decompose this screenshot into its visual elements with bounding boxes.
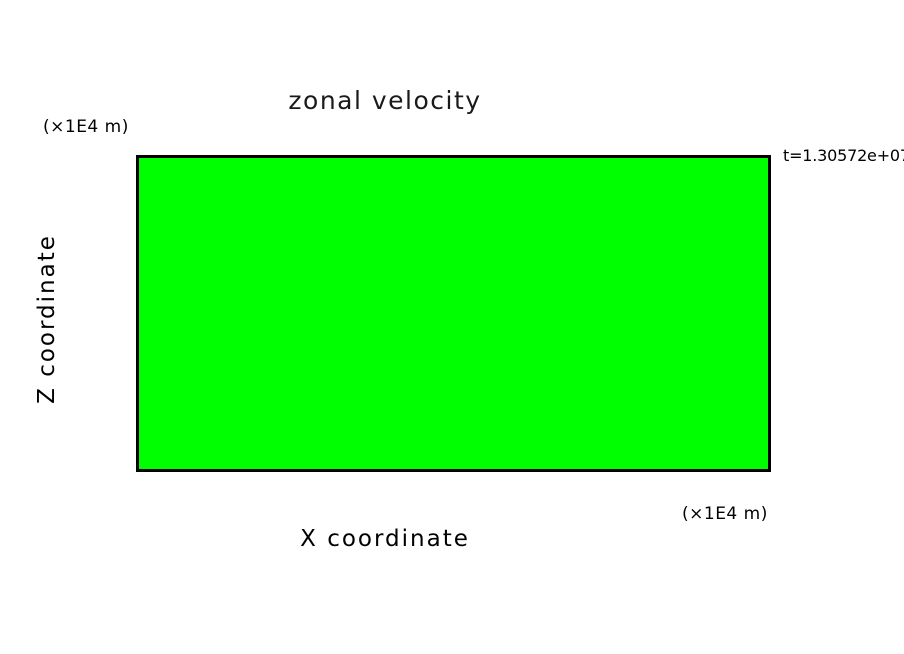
- y-axis-unit-label: (×1E4 m): [43, 117, 129, 137]
- timestamp-label: t=1.30572e+07: [783, 146, 904, 165]
- colorbar-svg: [780, 205, 804, 520]
- colorbar[interactable]: [780, 205, 804, 520]
- x-axis-unit-label: (×1E4 m): [682, 504, 768, 524]
- page-title: zonal velocity: [0, 86, 770, 115]
- contour-plot-area: [136, 155, 771, 472]
- y-axis-title: Z coordinate: [34, 209, 60, 429]
- contour-field-canvas: [139, 158, 768, 469]
- x-axis-title: X coordinate: [0, 526, 770, 552]
